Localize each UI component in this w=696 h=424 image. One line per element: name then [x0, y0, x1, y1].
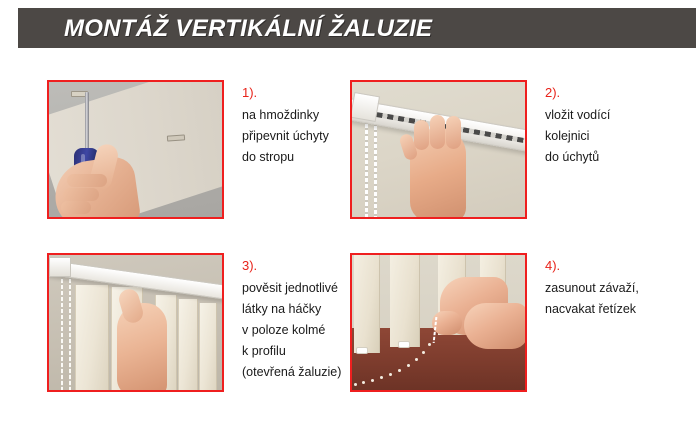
bottom-weight-icon — [356, 347, 368, 354]
chain-bead-icon — [398, 369, 401, 372]
hand-icon — [464, 303, 525, 349]
instruction-steps-grid: 1). na hmoždinky připevnit úchyty do str… — [0, 56, 696, 424]
ceiling-bracket-far-icon — [167, 134, 185, 141]
finger-icon — [430, 115, 445, 149]
blind-slat-icon — [75, 285, 109, 390]
photo-3-scene — [49, 255, 222, 390]
chain-bead-icon — [371, 379, 374, 382]
step-line: kolejnici — [545, 126, 696, 147]
step-number-2: 2). — [545, 82, 696, 103]
page-header-bar: MONTÁŽ VERTIKÁLNÍ ŽALUZIE — [18, 8, 696, 48]
step-text-2: 2). vložit vodící kolejnici do úchytů — [545, 80, 696, 168]
bottom-weight-icon — [398, 341, 410, 348]
photo-1-scene — [49, 82, 222, 217]
control-chain-icon — [69, 273, 71, 390]
finger-icon — [446, 116, 461, 149]
chain-bead-icon — [380, 376, 383, 379]
step-photo-3 — [47, 253, 224, 392]
step-text-4: 4). zasunout závaží, nacvakat řetízek — [545, 253, 696, 320]
step-photo-1 — [47, 80, 224, 219]
chain-bead-icon — [354, 383, 357, 386]
step-description-4: zasunout závaží, nacvakat řetízek — [545, 278, 696, 320]
blind-slat-icon — [199, 303, 217, 390]
finger-icon — [63, 188, 99, 201]
chain-bead-icon — [389, 373, 392, 376]
blind-slat-icon — [354, 255, 380, 353]
step-description-2: vložit vodící kolejnici do úchytů — [545, 105, 696, 168]
step-photo-4 — [350, 253, 527, 392]
screwdriver-shaft-icon — [85, 92, 89, 154]
chain-bead-icon — [422, 351, 425, 354]
blind-slat-icon — [390, 255, 420, 347]
step-item-1: 1). na hmoždinky připevnit úchyty do str… — [47, 80, 402, 219]
step-item-4: 4). zasunout závaží, nacvakat řetízek — [350, 253, 696, 392]
step-photo-2 — [350, 80, 527, 219]
step-line: nacvakat řetízek — [545, 299, 696, 320]
blind-slat-icon — [178, 299, 198, 390]
chain-bead-icon — [428, 343, 431, 346]
step-number-4: 4). — [545, 255, 696, 276]
photo-2-scene — [352, 82, 525, 217]
photo-4-scene — [352, 255, 525, 390]
step-line: do úchytů — [545, 147, 696, 168]
page-title: MONTÁŽ VERTIKÁLNÍ ŽALUZIE — [64, 15, 432, 43]
rail-endcap-icon — [352, 92, 380, 122]
step-line: vložit vodící — [545, 105, 696, 126]
chain-bead-icon — [362, 381, 365, 384]
finger-icon — [414, 120, 429, 150]
chain-bead-icon — [415, 358, 418, 361]
control-chain-icon — [374, 114, 377, 217]
chain-bead-icon — [407, 364, 410, 367]
rail-endcap-icon — [49, 257, 71, 277]
step-item-2: 2). vložit vodící kolejnici do úchytů — [350, 80, 696, 219]
finger-icon — [61, 201, 91, 214]
control-chain-icon — [61, 273, 63, 390]
step-line: zasunout závaží, — [545, 278, 696, 299]
step-item-3: 3). pověsit jednotlivé látky na háčky v … — [47, 253, 402, 392]
finger-icon — [67, 174, 107, 187]
control-chain-icon — [365, 112, 368, 217]
